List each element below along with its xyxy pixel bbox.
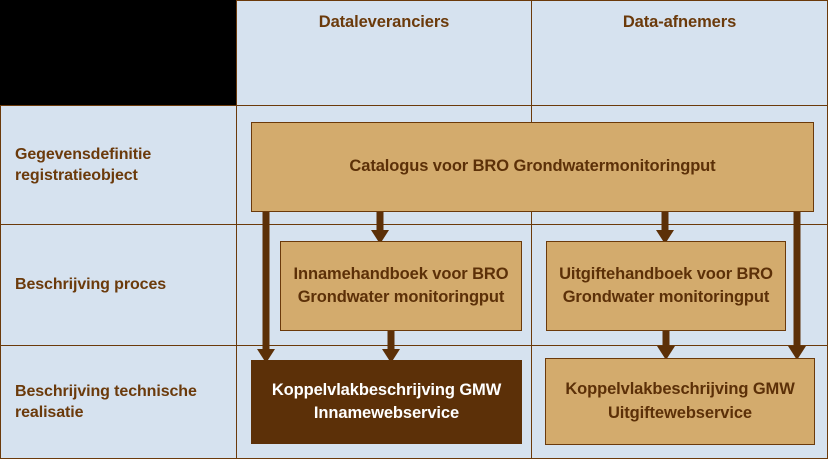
- column-header-dataleveranciers-label: Dataleveranciers: [319, 13, 450, 31]
- box-innamehandboek-label: Innamehandboek voor BRO Grondwater monit…: [289, 263, 513, 310]
- box-catalogus-label: Catalogus voor BRO Grondwatermonitoringp…: [349, 155, 715, 178]
- arrow-catalogus-to-innamehandboek: [370, 211, 390, 244]
- arrow-shaft: [377, 211, 384, 232]
- arrow-shaft: [388, 330, 395, 351]
- box-catalogus[interactable]: Catalogus voor BRO Grondwatermonitoringp…: [251, 122, 814, 212]
- row-label-technische-realisatie-text: Beschrijving technische realisatie: [15, 381, 228, 423]
- box-uitgiftewebservice[interactable]: Koppelvlakbeschrijving GMW Uitgiftewebse…: [545, 358, 815, 445]
- arrow-shaft: [662, 211, 669, 232]
- box-innamewebservice-label: Koppelvlakbeschrijving GMW Innamewebserv…: [260, 379, 513, 426]
- row-label-gegevensdefinitie: Gegevensdefinitie registratieobject: [0, 105, 237, 225]
- box-uitgiftehandboek[interactable]: Uitgiftehandboek voor BRO Grondwater mon…: [546, 241, 786, 331]
- architecture-diagram: Dataleveranciers Data-afnemers Gegevensd…: [0, 0, 828, 463]
- column-header-data-afnemers-label: Data-afnemers: [623, 13, 736, 31]
- arrow-catalogus-to-uitgiftewebservice: [787, 211, 807, 360]
- row-label-gegevensdefinitie-text: Gegevensdefinitie registratieobject: [15, 144, 228, 186]
- arrow-innamehandboek-to-innamewebservice: [381, 330, 401, 363]
- row-label-technische-realisatie: Beschrijving technische realisatie: [0, 345, 237, 459]
- box-uitgiftewebservice-label: Koppelvlakbeschrijving GMW Uitgiftewebse…: [554, 378, 806, 425]
- row-label-proces-text: Beschrijving proces: [15, 274, 166, 295]
- arrow-uitgiftehandboek-to-uitgiftewebservice: [656, 330, 676, 360]
- arrow-shaft: [794, 211, 801, 348]
- arrow-catalogus-to-innamewebservice: [256, 211, 276, 363]
- box-innamehandboek[interactable]: Innamehandboek voor BRO Grondwater monit…: [280, 241, 522, 331]
- box-uitgiftehandboek-label: Uitgiftehandboek voor BRO Grondwater mon…: [555, 263, 777, 310]
- row-label-proces: Beschrijving proces: [0, 224, 237, 346]
- corner-cell: [0, 0, 237, 106]
- column-header-data-afnemers: Data-afnemers: [531, 0, 828, 106]
- column-header-dataleveranciers: Dataleveranciers: [236, 0, 532, 106]
- arrow-catalogus-to-uitgiftehandboek: [655, 211, 675, 244]
- arrow-shaft: [263, 211, 270, 351]
- box-innamewebservice[interactable]: Koppelvlakbeschrijving GMW Innamewebserv…: [251, 360, 522, 444]
